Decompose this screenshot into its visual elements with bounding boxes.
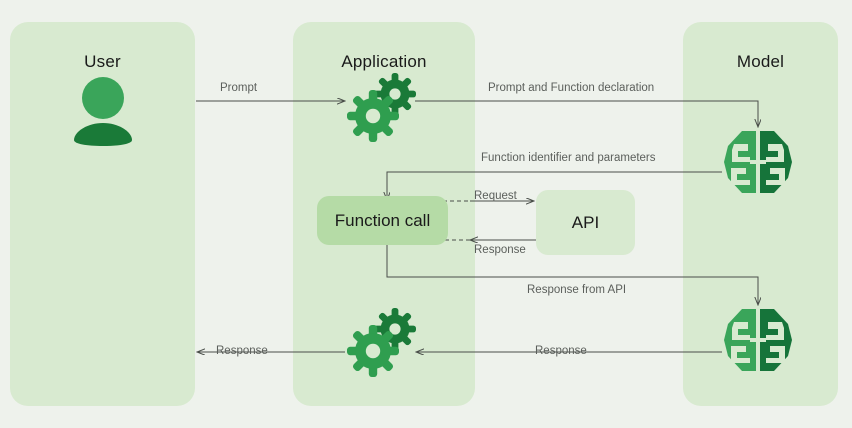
lane-title-model: Model xyxy=(683,52,838,72)
node-api[interactable]: API xyxy=(536,190,635,255)
node-function-call-label: Function call xyxy=(335,211,430,231)
edge-label-prompt: Prompt xyxy=(220,82,257,94)
diagram-canvas: User Application Model xyxy=(0,0,852,428)
node-api-label: API xyxy=(572,213,599,233)
gears-icon xyxy=(347,72,419,142)
edge-label-response-model: Response xyxy=(535,345,587,357)
edge-label-request: Request xyxy=(474,190,517,202)
gears-icon xyxy=(347,307,419,377)
node-function-call[interactable]: Function call xyxy=(317,196,448,245)
edge-label-response-from-api: Response from API xyxy=(527,284,626,296)
user-icon xyxy=(72,76,134,146)
edge-label-function-identifier-parameters: Function identifier and parameters xyxy=(481,152,656,164)
edge-label-prompt-function-declaration: Prompt and Function declaration xyxy=(488,82,654,94)
edge-label-response-api: Response xyxy=(474,244,526,256)
brain-icon xyxy=(722,128,794,196)
lane-title-user: User xyxy=(10,52,195,72)
lane-title-application: Application xyxy=(293,52,475,72)
brain-icon xyxy=(722,306,794,374)
edge-label-response-user: Response xyxy=(216,345,268,357)
